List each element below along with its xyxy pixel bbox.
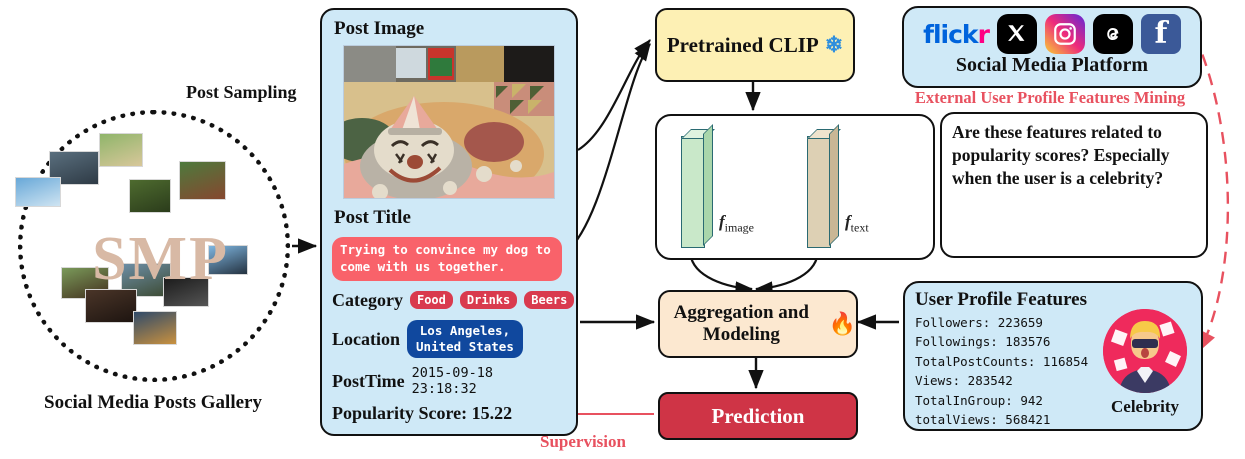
platform-caption: Social Media Platform [904,54,1200,77]
smp-word-cloud: SMP [53,219,268,299]
celebrity-caption: Celebrity [1103,397,1187,417]
flickr-icon: flickr [923,14,989,54]
location-value: Los Angeles, United States [407,320,523,359]
popularity-row: Popularity Score: 15.22 [332,403,566,424]
threads-icon [1093,14,1133,54]
diagram-canvas: SMP Social Media Posts Gallery Post Samp… [0,0,1245,459]
supervision-label: Supervision [540,432,626,452]
flickr-icon-pink: r [978,20,989,49]
post-image-heading: Post Image [334,18,566,40]
category-label: Category [332,290,403,311]
post-title-heading: Post Title [334,207,566,229]
category-pill-beers: Beers [524,291,574,309]
post-title-value: Trying to convince my dog to come with u… [332,237,562,281]
image-feature-label: fimage [719,212,754,235]
posttime-row: PostTime 2015-09-18 23:18:32 [332,365,566,397]
location-label: Location [332,329,400,350]
gallery-thumb [179,161,226,200]
research-question-box: Are these features related to popularity… [940,112,1208,258]
aggregation-label: Aggregation and Modeling [660,302,823,346]
text-feature-subscript: text [851,220,869,234]
category-pill-drinks: Drinks [460,291,517,309]
platform-logo-row: flickr f [904,13,1200,55]
gallery-thumb [129,179,171,213]
prediction-box: Prediction [658,392,858,440]
text-feature-bar-side [829,124,839,246]
post-sampling-label: Post Sampling [186,82,297,103]
image-feature-bar [681,136,705,248]
user-profile-title: User Profile Features [915,289,1191,311]
gallery-thumb [133,311,177,345]
aggregation-modeling-box: Aggregation and Modeling 🔥 [658,290,858,358]
text-feature-label: ftext [845,212,869,235]
popularity-label: Popularity Score: [332,403,467,423]
category-pill-food: Food [410,291,453,309]
post-image-thumbnail [343,45,555,199]
clip-features-box: fimage ftext [655,114,935,260]
post-card: Post Image [320,8,578,436]
snowflake-icon: ❄ [825,32,843,58]
category-row: Category Food Drinks Beers [332,290,566,311]
flame-icon: 🔥 [829,311,856,336]
gallery-thumb [15,177,61,207]
location-row: Location Los Angeles, United States [332,320,566,359]
posttime-value: 2015-09-18 23:18:32 [412,365,566,397]
gallery-caption: Social Media Posts Gallery [8,392,298,414]
popularity-value: 15.22 [472,403,513,423]
celebrity-avatar [1103,309,1187,393]
social-media-platform-box: flickr f Social Media Platform [902,6,1202,88]
clip-label: Pretrained CLIP [667,33,819,58]
text-feature-bar [807,136,831,248]
facebook-icon: f [1141,14,1181,54]
image-feature-bar-side [703,124,713,246]
instagram-icon [1045,14,1085,54]
posts-gallery-circle: SMP [18,110,290,382]
flickr-icon-blue: flick [923,20,977,49]
user-profile-features-box: User Profile Features Followers: 223659 … [903,281,1203,431]
posttime-label: PostTime [332,371,405,392]
image-feature-subscript: image [725,220,754,234]
pretrained-clip-box: Pretrained CLIP ❄ [655,8,855,82]
gallery-thumb [99,133,143,167]
external-mining-label: External User Profile Features Mining [902,88,1198,108]
x-twitter-icon [997,14,1037,54]
